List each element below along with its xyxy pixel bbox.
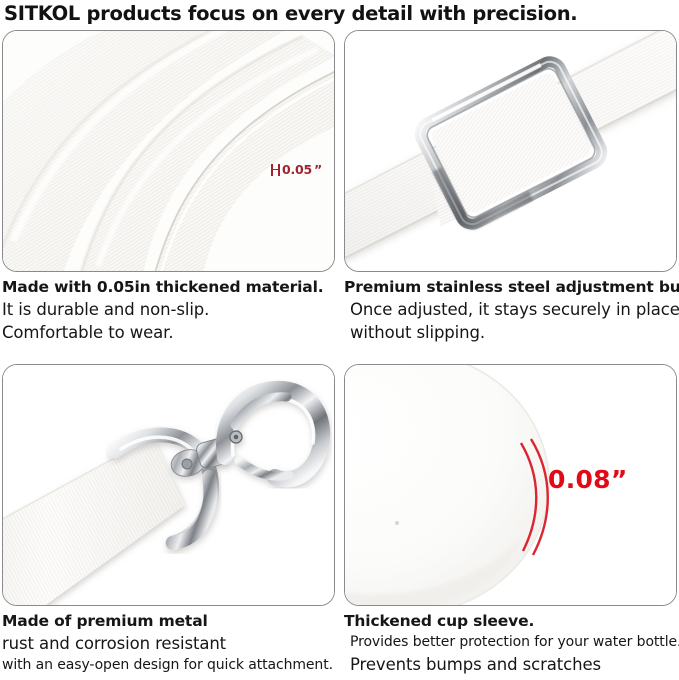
panel-clasp: Made of premium metal rust and corrosion… xyxy=(2,364,337,676)
caption-clasp: Made of premium metal rust and corrosion… xyxy=(2,606,337,676)
photo-clasp xyxy=(2,364,335,606)
photo-buckle xyxy=(344,30,677,272)
caption-line-two: It is durable and non-slip. xyxy=(2,298,337,321)
caption-line-two: rust and corrosion resistant xyxy=(2,632,337,655)
buckle-image xyxy=(345,31,676,271)
caption-sleeve: Thickened cup sleeve. Provides better pr… xyxy=(344,606,679,676)
panel-sleeve: 0.08” Thickened cup sleeve. Provides bet… xyxy=(344,364,679,676)
strap-illustration xyxy=(3,31,335,272)
woven-strap-image xyxy=(3,31,334,271)
infographic-page: SITKOL products focus on every detail wi… xyxy=(0,0,679,680)
caption-line-two: Once adjusted, it stays securely in plac… xyxy=(344,298,679,321)
caption-line-three: Comfortable to wear. xyxy=(2,321,337,344)
dimension-unit-005: ” xyxy=(314,162,322,177)
caliper-mark-icon xyxy=(271,164,280,176)
caption-title: Thickened cup sleeve. xyxy=(344,611,679,632)
caption-buckle: Premium stainless steel adjustment buckl… xyxy=(344,272,679,344)
dimension-label-008: 0.08” xyxy=(548,465,628,494)
caption-title: Made of premium metal xyxy=(2,611,337,632)
caption-line-three: without slipping. xyxy=(344,321,679,344)
caption-line-two: Provides better protection for your wate… xyxy=(344,632,679,653)
dimension-label-005: 0.05” xyxy=(271,162,322,177)
clasp-illustration xyxy=(3,365,335,606)
photo-sleeve: 0.08” xyxy=(344,364,677,606)
page-title: SITKOL products focus on every detail wi… xyxy=(4,0,676,28)
dimension-value-005: 0.05 xyxy=(282,162,312,177)
clasp-image xyxy=(3,365,334,605)
panel-buckle: Premium stainless steel adjustment buckl… xyxy=(344,30,679,344)
photo-thickness: 0.05” xyxy=(2,30,335,272)
caption-line-three: Prevents bumps and scratches xyxy=(344,653,679,676)
panel-thickness: 0.05” Made with 0.05in thickened materia… xyxy=(2,30,337,344)
dimension-value-008: 0.08 xyxy=(548,465,611,494)
dimension-unit-008: ” xyxy=(611,465,628,494)
buckle-illustration xyxy=(345,31,677,272)
caption-title: Made with 0.05in thickened material. xyxy=(2,277,337,298)
caption-thickness: Made with 0.05in thickened material. It … xyxy=(2,272,337,344)
caption-title: Premium stainless steel adjustment buckl… xyxy=(344,277,679,298)
caption-line-three: with an easy-open design for quick attac… xyxy=(2,655,337,676)
